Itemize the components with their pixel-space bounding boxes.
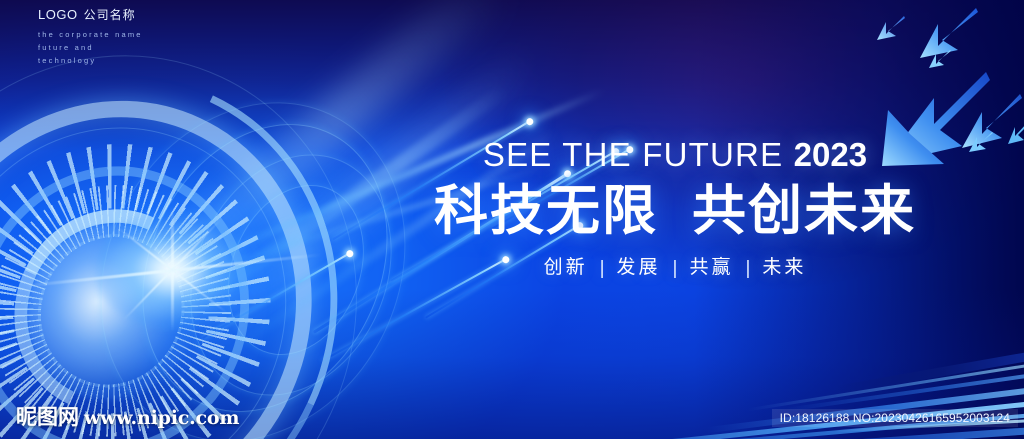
logo-brand: LOGO <box>38 7 78 22</box>
sub-keyword-2: 共赢 <box>689 257 733 278</box>
logo-tagline-line2: future and <box>38 41 143 54</box>
headline-chinese-right: 共创未来 <box>692 181 916 241</box>
logo-tagline-line3: technology <box>38 54 143 67</box>
sub-keyword-0: 创新 <box>544 257 588 278</box>
sub-separator-0: | <box>600 258 608 280</box>
headline-english-text: SEE THE FUTURE <box>483 136 783 173</box>
down-left-arrow-small-1 <box>876 14 906 42</box>
down-left-arrow-small-3 <box>968 130 994 154</box>
down-left-arrow-small-2 <box>928 48 952 70</box>
logo-tagline-line1: the corporate name <box>38 28 143 41</box>
logo-tagline: the corporate name future and technology <box>38 28 143 67</box>
sub-separator-2: | <box>745 258 753 280</box>
watermark: 昵图网 www.nipic.com <box>16 401 239 431</box>
asset-id-bar: ID:18126188 NO:20230426165952003124 <box>772 409 1018 427</box>
watermark-site-url: www.nipic.com <box>84 407 239 429</box>
watermark-site-cn: 昵图网 <box>16 401 79 431</box>
main-copy-block: SEE THE FUTURE 2023 科技无限共创未来 创新|发展|共赢|未来 <box>385 138 965 279</box>
sub-keyword-3: 未来 <box>762 257 806 278</box>
poster-canvas: LOGO公司名称 the corporate name future and t… <box>0 0 1024 439</box>
down-left-arrow-small-4 <box>1008 120 1024 146</box>
logo-block: LOGO公司名称 the corporate name future and t… <box>38 8 143 67</box>
headline-year: 2023 <box>794 136 867 173</box>
sub-keywords: 创新|发展|共赢|未来 <box>385 252 965 279</box>
logo-company-cn: 公司名称 <box>84 8 136 22</box>
headline-chinese-left: 科技无限 <box>434 181 658 241</box>
sub-keyword-1: 发展 <box>617 257 661 278</box>
logo-title: LOGO公司名称 <box>38 8 143 23</box>
sub-separator-1: | <box>673 258 681 280</box>
headline-english: SEE THE FUTURE 2023 <box>385 138 965 171</box>
headline-chinese: 科技无限共创未来 <box>385 182 965 240</box>
